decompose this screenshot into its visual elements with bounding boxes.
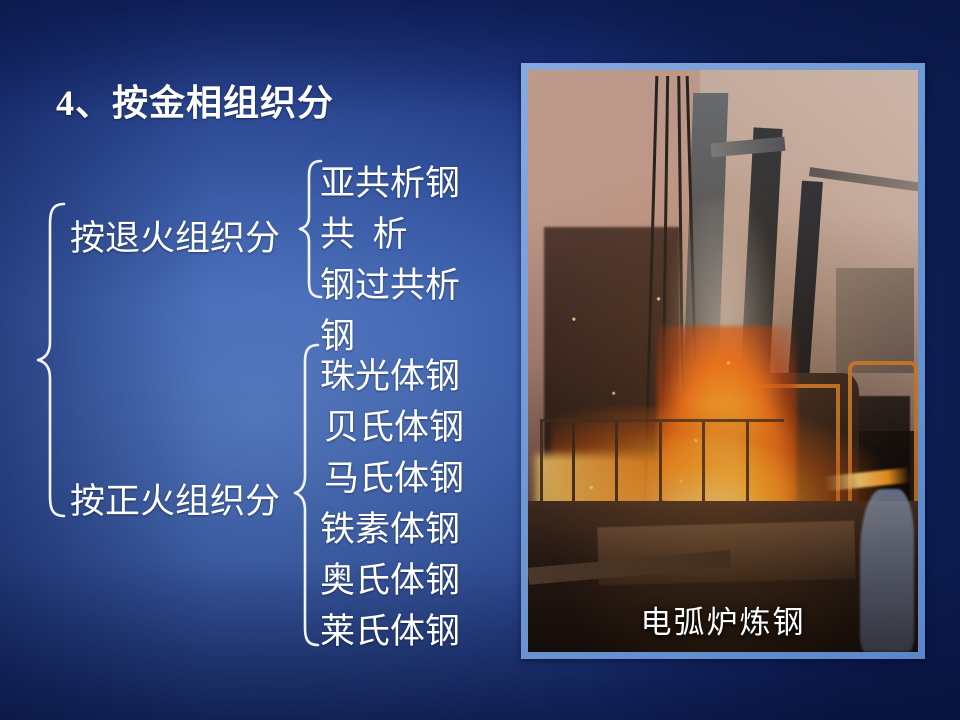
leaf-item-0-0: 亚共析钢 <box>320 155 460 206</box>
leaf-item-1-3: 铁素体钢 <box>320 501 460 552</box>
group-label-normalized: 按正火组织分 <box>70 473 280 524</box>
furnace-photo: 电弧炉炼钢 <box>528 70 918 652</box>
leaf-item-1-4: 奥氏体钢 <box>320 552 460 603</box>
leaf-item-1-5: 莱氏体钢 <box>320 603 460 654</box>
outer-brace-icon <box>34 200 68 520</box>
photo-shading-overlay <box>528 70 918 652</box>
group-brace-normalized-icon <box>293 342 321 650</box>
leaf-item-0-2: 钢过共析 <box>320 257 460 308</box>
group-label-annealed: 按退火组织分 <box>70 210 280 261</box>
classification-diagram: 按退火组织分 亚共析钢 共 析 钢过共析 钢 按正火组织分 珠光体钢 贝氏体钢 … <box>0 0 520 720</box>
leaf-item-0-1: 共 析 <box>320 206 408 257</box>
leaf-item-1-0: 珠光体钢 <box>320 348 460 399</box>
photo-caption: 电弧炉炼钢 <box>528 597 918 642</box>
leaf-item-1-2: 马氏体钢 <box>324 450 464 501</box>
photo-frame: 电弧炉炼钢 <box>521 63 925 659</box>
leaf-item-1-1: 贝氏体钢 <box>324 399 464 450</box>
slide-canvas: 4、按金相组织分 按退火组织分 亚共析钢 共 析 钢过共析 钢 按正火组织分 珠… <box>0 0 960 720</box>
